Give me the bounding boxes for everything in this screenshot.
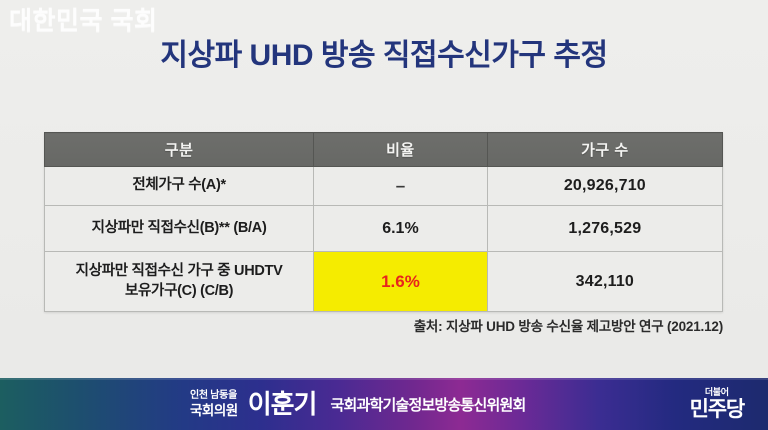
bottom-banner: 인천 남동을 국회의원 이훈기 국회과학기술정보방송통신위원회 더불어 민주당	[0, 378, 768, 430]
estimation-table: 구분 비율 가구 수 전체가구 수(A)* – 20,926,710 지상파만 …	[44, 132, 723, 312]
table-row: 지상파만 직접수신(B)** (B/A) 6.1% 1,276,529	[45, 206, 723, 252]
cell-category-uhdtv-owning-line1: 지상파만 직접수신 가구 중 UHDTV	[76, 263, 283, 279]
cell-households-terrestrial-only: 1,276,529	[487, 206, 722, 252]
column-header-households: 가구 수	[487, 133, 722, 167]
cell-ratio-total-households: –	[314, 167, 488, 206]
cell-ratio-terrestrial-only: 6.1%	[314, 206, 488, 252]
cell-category-total-households: 전체가구 수(A)*	[45, 167, 314, 206]
cell-category-uhdtv-owning: 지상파만 직접수신 가구 중 UHDTV 보유가구(C) (C/B)	[45, 252, 314, 312]
slide-canvas: 대한민국 국회 지상파 UHD 방송 직접수신가구 추정 구분 비율 가구 수 …	[0, 0, 768, 430]
table-header-row: 구분 비율 가구 수	[45, 133, 723, 167]
table-row: 전체가구 수(A)* – 20,926,710	[45, 167, 723, 206]
table-header: 구분 비율 가구 수	[45, 133, 723, 167]
cell-households-total: 20,926,710	[487, 167, 722, 206]
column-header-ratio: 비율	[314, 133, 488, 167]
party-logo-top-label: 더불어	[705, 388, 729, 397]
cell-households-uhdtv-owning: 342,110	[487, 252, 722, 312]
estimation-table-container: 구분 비율 가구 수 전체가구 수(A)* – 20,926,710 지상파만 …	[44, 132, 723, 312]
mp-identity-block: 인천 남동을 국회의원 이훈기 국회과학기술정보방송통신위원회	[190, 378, 525, 430]
mp-name-label: 이훈기	[248, 391, 317, 417]
mp-role-label: 국회의원	[190, 404, 238, 418]
mp-region-role: 인천 남동을 국회의원	[190, 391, 238, 418]
table-body: 전체가구 수(A)* – 20,926,710 지상파만 직접수신(B)** (…	[45, 167, 723, 312]
cell-category-terrestrial-only: 지상파만 직접수신(B)** (B/A)	[45, 206, 314, 252]
party-logo: 더불어 민주당	[690, 378, 744, 430]
page-title: 지상파 UHD 방송 직접수신가구 추정	[0, 30, 768, 74]
column-header-category: 구분	[45, 133, 314, 167]
source-note: 출처: 지상파 UHD 방송 수신율 제고방안 연구 (2021.12)	[414, 315, 723, 335]
table-row: 지상파만 직접수신 가구 중 UHDTV 보유가구(C) (C/B) 1.6% …	[45, 252, 723, 312]
cell-ratio-uhdtv-owning-highlighted: 1.6%	[314, 252, 488, 312]
mp-committee-label: 국회과학기술정보방송통신위원회	[330, 394, 525, 415]
cell-category-uhdtv-owning-line2: 보유가구(C) (C/B)	[125, 283, 233, 299]
party-logo-main-label: 민주당	[690, 399, 744, 420]
mp-region-label: 인천 남동을	[190, 391, 238, 401]
